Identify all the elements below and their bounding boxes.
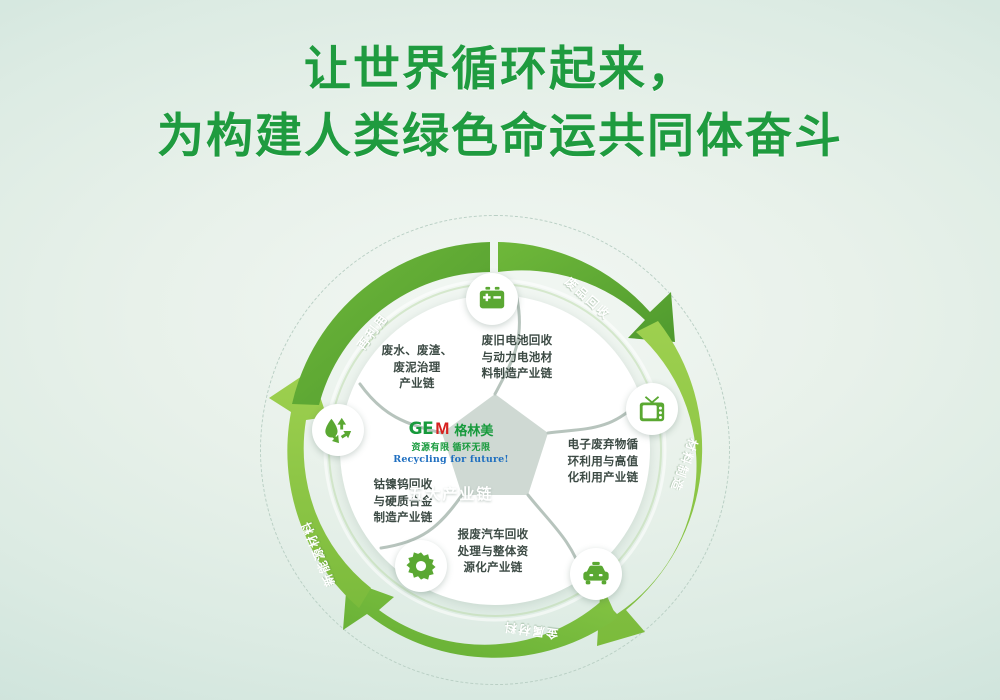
- gem-logo: GEM 格林美 资源有限 循环无限 Recycling for future!: [391, 419, 511, 465]
- segment-label-wastewater-chain: 废水、废渣、 废泥治理 产业链: [365, 343, 469, 393]
- segment-label-scrap-car-chain: 报废汽车回收 处理与整体资 源化产业链: [441, 527, 545, 577]
- infographic-stage: 让世界循环起来， 为构建人类绿色命运共同体奋斗: [0, 0, 1000, 700]
- segment-label-ewaste-chain: 电子废弃物循 环利用与高值 化利用产业链: [555, 437, 651, 487]
- industry-chain-diagram: 废品回收 材料制造 金属材料 新能源材料 再利用 废旧电池: [255, 215, 745, 685]
- center-caption: 五大产业链: [408, 483, 493, 504]
- tv-icon-bubble[interactable]: [626, 383, 678, 435]
- page-title: 让世界循环起来， 为构建人类绿色命运共同体奋斗: [0, 38, 1000, 166]
- battery-icon-bubble[interactable]: [466, 273, 518, 325]
- recycle-water-icon: [323, 415, 353, 445]
- title-line-2: 为构建人类绿色命运共同体奋斗: [0, 105, 1000, 166]
- logo-slogan-cn: 资源有限 循环无限: [391, 440, 511, 453]
- logo-wordmark: GEM 格林美: [391, 419, 511, 439]
- logo-chinese-name: 格林美: [454, 420, 493, 439]
- title-line-1: 让世界循环起来，: [0, 38, 1000, 99]
- logo-gem-text: GE: [409, 419, 434, 439]
- recycle-water-icon-bubble[interactable]: [312, 404, 364, 456]
- car-icon: [581, 559, 611, 589]
- battery-icon: [477, 284, 507, 314]
- tv-icon: [637, 394, 667, 424]
- logo-slogan-en: Recycling for future!: [391, 454, 511, 465]
- segment-label-battery-chain: 废旧电池回收 与动力电池材 料制造产业链: [465, 333, 569, 383]
- gear-icon-bubble[interactable]: [395, 540, 447, 592]
- car-icon-bubble[interactable]: [570, 548, 622, 600]
- gear-icon: [406, 551, 436, 581]
- logo-m-accent: M: [435, 419, 449, 439]
